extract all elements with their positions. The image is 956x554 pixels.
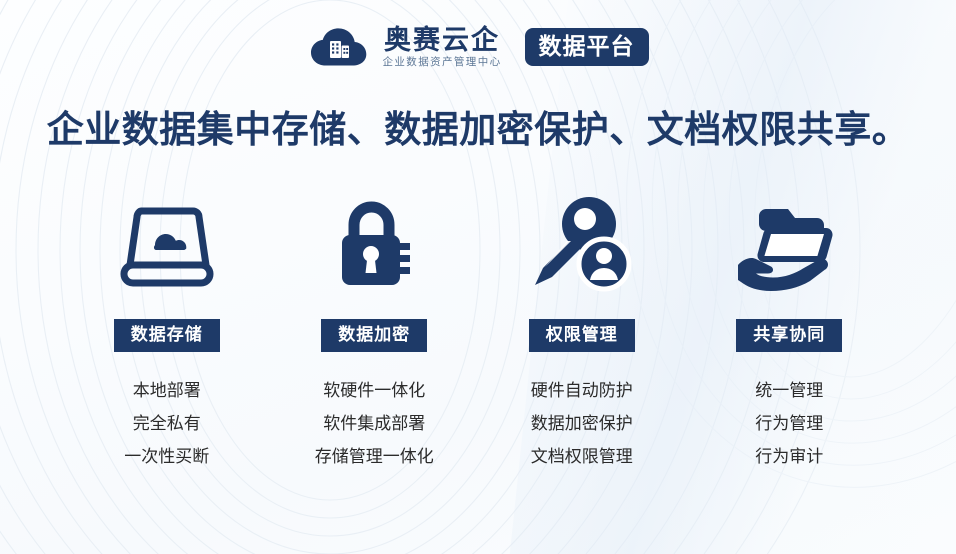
cloud-building-icon — [308, 24, 370, 70]
feature-column-data-encryption: 数据加密 软硬件一体化 软件集成部署 存储管理一体化 — [271, 190, 479, 468]
marketing-slide: 奥赛云企 企业数据资产管理中心 数据平台 企业数据集中存储、数据加密保护、文档权… — [0, 0, 956, 554]
feature-item: 数据加密保护 — [531, 413, 633, 434]
brand-name: 奥赛云企 — [384, 26, 500, 54]
feature-column-permission-management: 权限管理 硬件自动防护 数据加密保护 文档权限管理 — [478, 190, 686, 468]
hand-holding-folder-icon — [730, 190, 848, 300]
feature-item-list: 本地部署 完全私有 一次性买断 — [124, 380, 209, 468]
feature-item-list: 硬件自动防护 数据加密保护 文档权限管理 — [531, 380, 633, 468]
feature-item: 行为管理 — [755, 413, 823, 434]
key-user-permission-icon — [527, 190, 637, 300]
feature-item: 统一管理 — [755, 380, 823, 401]
feature-item-list: 统一管理 行为管理 行为审计 — [755, 380, 823, 468]
data-storage-cloud-drive-icon — [115, 190, 219, 300]
lock-padlock-icon — [326, 190, 422, 300]
brand-subtitle: 企业数据资产管理中心 — [383, 57, 502, 68]
feature-label: 数据加密 — [321, 319, 427, 352]
feature-label: 共享协同 — [736, 319, 842, 352]
feature-item: 行为审计 — [755, 446, 823, 467]
feature-item: 存储管理一体化 — [315, 446, 434, 467]
platform-badge: 数据平台 — [525, 28, 649, 66]
feature-item: 文档权限管理 — [531, 446, 633, 467]
feature-column-data-storage: 数据存储 本地部署 完全私有 一次性买断 — [63, 190, 271, 468]
feature-item: 一次性买断 — [124, 446, 209, 467]
feature-item-list: 软硬件一体化 软件集成部署 存储管理一体化 — [315, 380, 434, 468]
brand-text-block: 奥赛云企 企业数据资产管理中心 — [383, 26, 502, 68]
brand-header: 奥赛云企 企业数据资产管理中心 数据平台 — [0, 18, 956, 76]
page-title: 企业数据集中存储、数据加密保护、文档权限共享。 — [0, 99, 956, 153]
feature-item: 完全私有 — [133, 413, 201, 434]
feature-column-share-collaboration: 共享协同 统一管理 行为管理 行为审计 — [686, 190, 894, 468]
feature-label: 数据存储 — [114, 319, 220, 352]
feature-label: 权限管理 — [529, 319, 635, 352]
feature-item: 硬件自动防护 — [531, 380, 633, 401]
feature-item: 软件集成部署 — [323, 413, 425, 434]
feature-item: 软硬件一体化 — [323, 380, 425, 401]
feature-grid: 数据存储 本地部署 完全私有 一次性买断 数据加密 — [63, 190, 893, 468]
feature-item: 本地部署 — [133, 380, 201, 401]
